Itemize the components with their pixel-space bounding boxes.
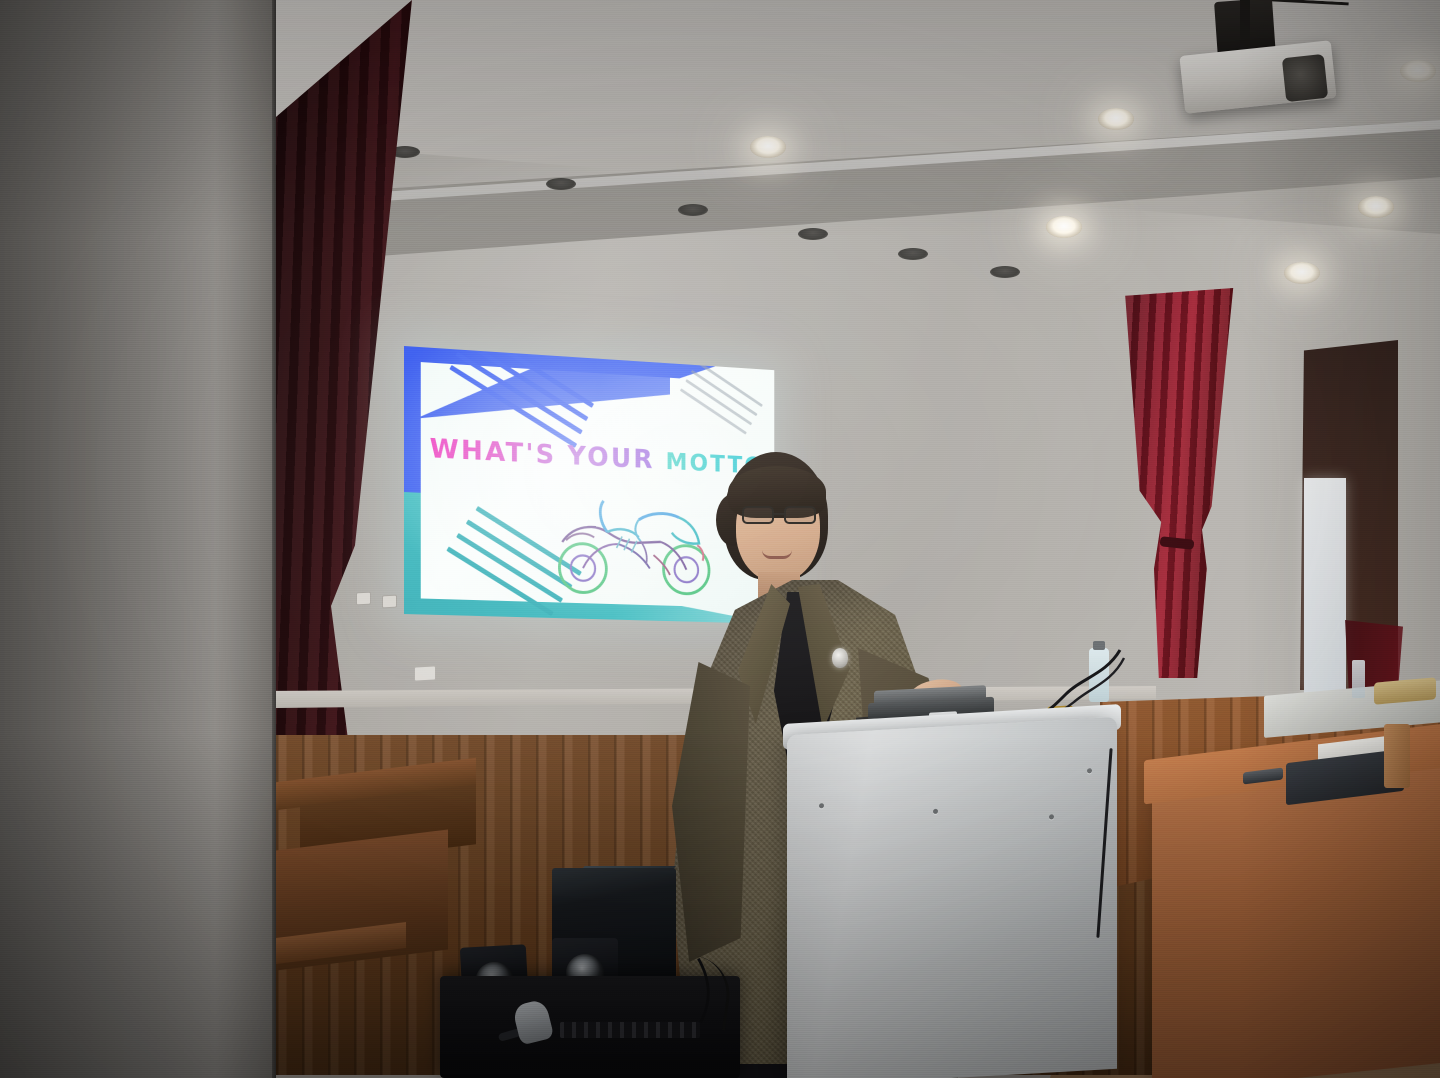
podium-screw [819, 803, 824, 808]
brooch [832, 648, 848, 668]
ceiling-light-on [750, 136, 786, 158]
glasses-icon [740, 506, 820, 524]
conference-room-photo: WHAT'S YOUR MOTTO? [0, 0, 1440, 1078]
wall-control-box[interactable] [414, 665, 436, 681]
ceiling-light-on [1284, 262, 1320, 284]
foreground-pillar [0, 0, 276, 1078]
ceiling-light-off [678, 204, 708, 216]
ceiling-light-off [798, 228, 828, 240]
glasses-lens-right [784, 506, 816, 524]
ceiling-light-off [898, 248, 928, 260]
podium-screw [1049, 814, 1054, 819]
alcove-white-panel [1304, 478, 1346, 693]
amplifier-controls[interactable] [560, 1022, 700, 1038]
glasses-lens-left [742, 506, 774, 524]
slide-stripes-top-right [677, 377, 774, 436]
mouth [762, 550, 792, 559]
podium [787, 717, 1117, 1078]
ceiling-light-on [1400, 60, 1436, 82]
slide-edge-blue [404, 346, 421, 495]
projector-lens [1282, 54, 1328, 102]
ceiling-light-on [1046, 216, 1082, 238]
cup-on-desk [1384, 724, 1410, 788]
wall-socket[interactable] [382, 595, 397, 609]
ceiling-light-off [990, 266, 1020, 278]
wall-socket[interactable] [356, 592, 371, 606]
ceiling-light-on [1098, 108, 1134, 130]
drinking-glass [1352, 660, 1365, 698]
podium-screw [933, 809, 938, 814]
slide-edge-teal [404, 492, 421, 614]
podium-screw [1087, 768, 1092, 773]
slide-stripes-top-left [449, 355, 666, 442]
ceiling-light-off [546, 178, 576, 190]
glasses-bridge [774, 513, 786, 515]
ceiling-light-on [1358, 196, 1394, 218]
projector-arm [1240, 0, 1250, 52]
